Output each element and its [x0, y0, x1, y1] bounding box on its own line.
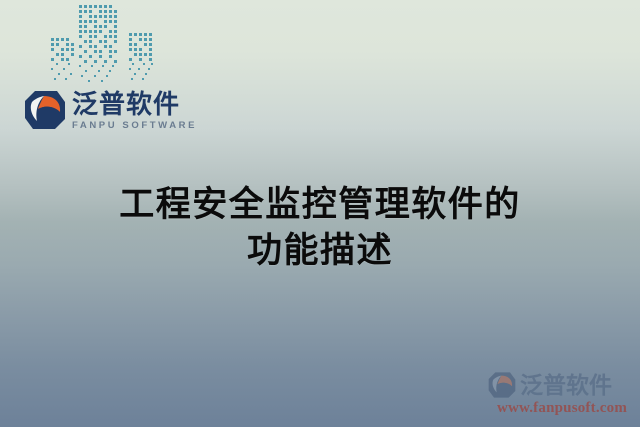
page-title-line-1: 工程安全监控管理软件的 — [0, 182, 640, 228]
pixel-buildings-graphic — [46, 2, 158, 86]
brand-name-cn: 泛普软件 — [72, 91, 197, 118]
brand-logo: 泛普软件 FANPU SOFTWARE — [24, 89, 197, 131]
watermark-fanpu-logo-mark-icon — [488, 371, 516, 399]
slide-canvas: 泛普软件 FANPU SOFTWARE 工程安全监控管理软件的 功能描述 泛普软… — [0, 0, 640, 427]
watermark-brand-name-cn: 泛普软件 — [520, 374, 612, 397]
page-title-line-2: 功能描述 — [0, 228, 640, 274]
watermark-url: www.fanpusoft.com — [488, 400, 636, 417]
brand-name-en: FANPU SOFTWARE — [72, 120, 197, 131]
fanpu-logo-mark-icon — [24, 89, 66, 131]
page-title: 工程安全监控管理软件的 功能描述 — [0, 182, 640, 274]
watermark: 泛普软件 www.fanpusoft.com — [488, 371, 636, 417]
